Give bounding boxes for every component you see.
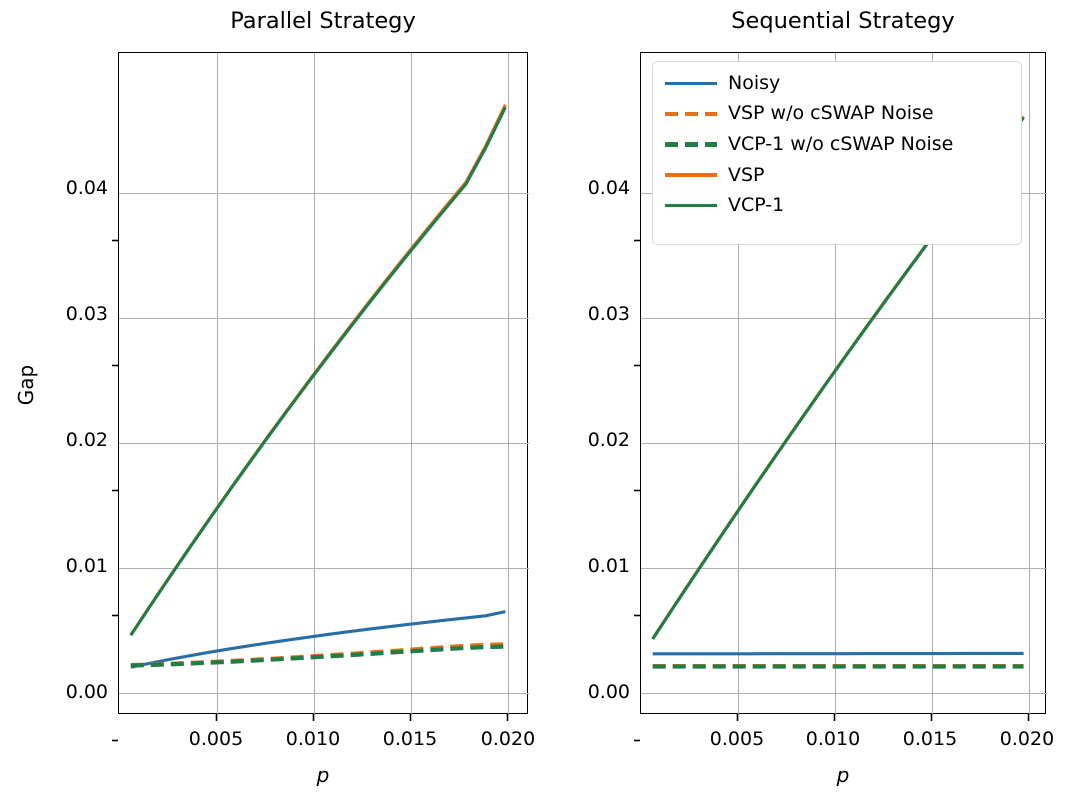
y-tick-label-seq-0-00: 0.00 bbox=[542, 683, 630, 702]
x-tick-label-seq-0-010: 0.010 bbox=[783, 730, 883, 749]
figure-canvas: Parallel Strategy 0.00 0.01 0.02 0.03 0.… bbox=[0, 0, 1079, 804]
legend-label-vsp: VSP bbox=[728, 166, 765, 185]
y-tick-label-0-04: 0.04 bbox=[20, 179, 108, 198]
legend-swatch-noisy bbox=[665, 76, 717, 90]
y-tick-label-seq-0-02: 0.02 bbox=[542, 431, 630, 450]
x-tick-label-seq-0-020: 0.020 bbox=[977, 730, 1077, 749]
y-tick-label-seq-0-03: 0.03 bbox=[542, 305, 630, 324]
x-tick-label-0-010: 0.010 bbox=[263, 730, 363, 749]
legend-label-noisy: Noisy bbox=[728, 74, 780, 93]
y-tick-label-seq-0-04: 0.04 bbox=[542, 179, 630, 198]
legend-item-vsp-wo-cswap[interactable]: VSP w/o cSWAP Noise bbox=[653, 99, 1021, 130]
y-tick-label-0-00: 0.00 bbox=[20, 683, 108, 702]
x-tick-label-0-005: 0.005 bbox=[166, 730, 266, 749]
legend-swatch-vsp-wo-cswap bbox=[665, 107, 717, 121]
panel-sequential-strategy: Sequential Strategy 0.00 0.01 0.02 0.03 … bbox=[540, 0, 1079, 804]
legend-swatch-vsp bbox=[665, 168, 717, 182]
legend-swatch-vcp1 bbox=[665, 199, 717, 213]
panel-parallel-strategy: Parallel Strategy 0.00 0.01 0.02 0.03 0.… bbox=[0, 0, 540, 804]
legend-label-vcp1: VCP-1 bbox=[728, 196, 784, 215]
y-axis-label-gap: Gap bbox=[14, 335, 38, 435]
x-axis-label-p: p bbox=[118, 763, 528, 787]
y-tick-label-0-01: 0.01 bbox=[20, 557, 108, 576]
x-tick-label-seq-0-005: 0.005 bbox=[687, 730, 787, 749]
legend-item-vcp1-wo-cswap[interactable]: VCP-1 w/o cSWAP Noise bbox=[653, 129, 1021, 160]
y-tick-label-0-03: 0.03 bbox=[20, 305, 108, 324]
legend-item-vcp1[interactable]: VCP-1 bbox=[653, 190, 1021, 221]
legend-item-noisy[interactable]: Noisy bbox=[653, 68, 1021, 99]
legend-swatch-vcp1-wo-cswap bbox=[665, 137, 717, 151]
legend-item-vsp[interactable]: VSP bbox=[653, 160, 1021, 191]
y-tick-label-seq-0-01: 0.01 bbox=[542, 557, 630, 576]
x-tick-label-seq-0-015: 0.015 bbox=[880, 730, 980, 749]
chart-legend: Noisy VSP w/o cSWAP Noise VCP-1 w/o cSWA… bbox=[652, 61, 1022, 245]
panel-title-sequential: Sequential Strategy bbox=[640, 6, 1046, 36]
x-tick-label-0-015: 0.015 bbox=[360, 730, 460, 749]
x-axis-label-p-seq: p bbox=[640, 763, 1046, 787]
legend-label-vcp1-wo-cswap: VCP-1 w/o cSWAP Noise bbox=[728, 135, 953, 154]
panel-title-parallel: Parallel Strategy bbox=[118, 6, 528, 36]
tick-marks-parallel bbox=[108, 42, 538, 732]
legend-label-vsp-wo-cswap: VSP w/o cSWAP Noise bbox=[728, 104, 934, 123]
